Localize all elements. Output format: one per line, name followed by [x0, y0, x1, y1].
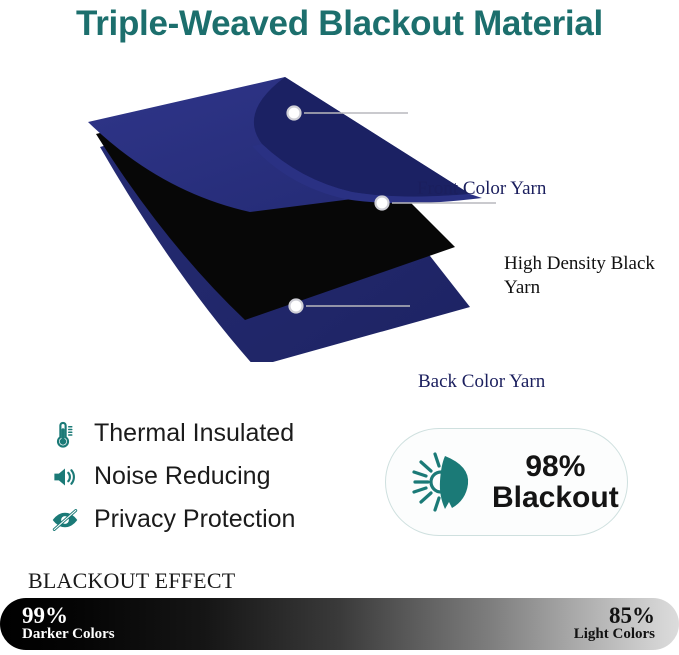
blackout-badge: 98% Blackout [385, 428, 628, 536]
blackout-effect-gradient-bar: 99% Darker Colors 85% Light Colors [0, 598, 679, 650]
feature-label: Noise Reducing [94, 462, 271, 491]
feature-privacy-protection: Privacy Protection [48, 498, 378, 541]
feature-list: Thermal Insulated Noise Reducing Privacy… [48, 412, 378, 541]
feature-label: Thermal Insulated [94, 419, 294, 448]
feature-thermal-insulated: Thermal Insulated [48, 412, 378, 455]
thermometer-icon [48, 417, 82, 451]
feature-noise-reducing: Noise Reducing [48, 455, 378, 498]
bar-right-sub: Light Colors [574, 627, 655, 642]
sun-blocked-icon [408, 448, 480, 516]
badge-percent: 98% [525, 450, 585, 483]
bar-right-percent: 85% [574, 604, 655, 627]
callout-dot-icon [290, 300, 303, 313]
bar-label-light: 85% Light Colors [574, 604, 655, 643]
fabric-layers-diagram: Front Color Yarn High Density Black Yarn… [0, 72, 679, 362]
callout-dot-icon [288, 107, 301, 120]
bar-left-percent: 99% [22, 604, 115, 627]
eye-slash-icon [48, 503, 82, 537]
callout-label-back-color-yarn: Back Color Yarn [418, 370, 545, 394]
page-title: Triple-Weaved Blackout Material [0, 4, 679, 44]
callout-label-high-density-black-yarn: High Density Black Yarn [504, 252, 664, 300]
feature-label: Privacy Protection [94, 505, 295, 534]
speaker-icon [48, 460, 82, 494]
bar-left-sub: Darker Colors [22, 627, 115, 642]
callout-label-front-color-yarn: Front Color Yarn [417, 177, 546, 201]
badge-label: Blackout [492, 481, 619, 514]
blackout-effect-heading: BLACKOUT EFFECT [28, 568, 235, 594]
callout-dot-icon [376, 197, 389, 210]
bar-label-darker: 99% Darker Colors [22, 604, 115, 643]
